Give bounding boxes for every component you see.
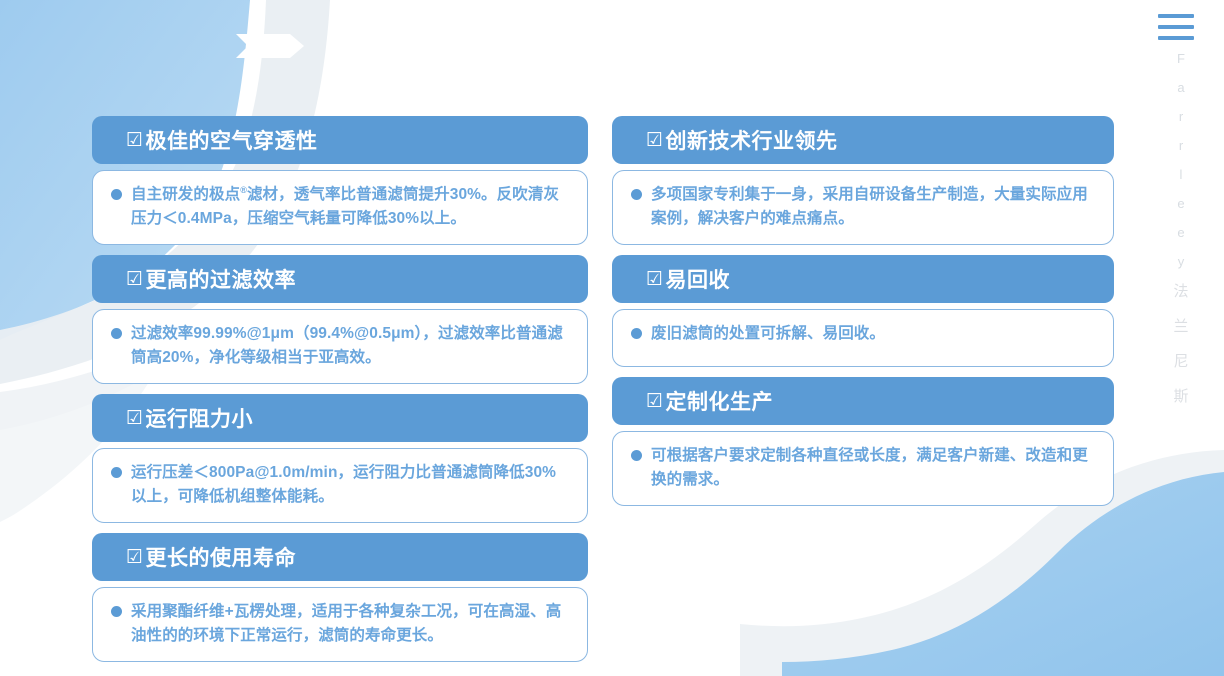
vertical-char-4: l (1180, 168, 1183, 181)
vertical-char-7: y (1178, 255, 1185, 268)
feature-block: ☑ 易回收 废旧滤筒的处置可拆解、易回收。 (612, 255, 1114, 367)
menu-bar-2 (1158, 25, 1194, 29)
feature-description: 可根据客户要求定制各种直径或长度，满足客户新建、改造和更换的需求。 (651, 444, 1097, 492)
feature-block: ☑ 更高的过滤效率 过滤效率99.99%@1μm（99.4%@0.5μm），过滤… (92, 255, 588, 384)
vertical-char-5: e (1177, 197, 1184, 210)
menu-bar-1 (1158, 14, 1194, 18)
feature-column-right: ☑ 创新技术行业领先 多项国家专利集于一身，采用自研设备生产制造，大量实际应用案… (612, 116, 1114, 516)
feature-description: 自主研发的极点®滤材，透气率比普通滤筒提升30%。反吹清灰压力＜0.4MPa，压… (131, 183, 571, 231)
feature-description: 运行压差＜800Pa@1.0m/min，运行阻力比普通滤筒降低30%以上，可降低… (131, 461, 571, 509)
feature-block: ☑ 极佳的空气穿透性 自主研发的极点®滤材，透气率比普通滤筒提升30%。反吹清灰… (92, 116, 588, 245)
features-content: ☑ 极佳的空气穿透性 自主研发的极点®滤材，透气率比普通滤筒提升30%。反吹清灰… (0, 0, 1224, 676)
checkbox-icon: ☑ (126, 548, 144, 567)
feature-description: 多项国家专利集于一身，采用自研设备生产制造，大量实际应用案例，解决客户的难点痛点… (651, 183, 1097, 231)
bullet-dot-icon (631, 328, 642, 339)
feature-title: 易回收 (666, 264, 731, 294)
vertical-char-9: 兰 (1173, 319, 1188, 334)
bullet-dot-icon (111, 467, 122, 478)
feature-header[interactable]: ☑ 创新技术行业领先 (612, 116, 1114, 164)
feature-description: 废旧滤筒的处置可拆解、易回收。 (651, 322, 885, 346)
feature-block: ☑ 创新技术行业领先 多项国家专利集于一身，采用自研设备生产制造，大量实际应用案… (612, 116, 1114, 245)
feature-header[interactable]: ☑ 极佳的空气穿透性 (92, 116, 588, 164)
vertical-char-10: 尼 (1173, 354, 1188, 369)
checkbox-icon: ☑ (126, 131, 144, 150)
vertical-char-2: r (1179, 110, 1183, 123)
feature-body: 采用聚酯纤维+瓦楞处理，适用于各种复杂工况，可在高湿、高油性的的环境下正常运行，… (92, 587, 588, 662)
feature-body: 自主研发的极点®滤材，透气率比普通滤筒提升30%。反吹清灰压力＜0.4MPa，压… (92, 170, 588, 245)
checkbox-icon: ☑ (126, 409, 144, 428)
vertical-char-11: 斯 (1173, 389, 1188, 404)
bullet-dot-icon (631, 189, 642, 200)
feature-description: 过滤效率99.99%@1μm（99.4%@0.5μm），过滤效率比普通滤筒高20… (131, 322, 571, 370)
feature-body: 运行压差＜800Pa@1.0m/min，运行阻力比普通滤筒降低30%以上，可降低… (92, 448, 588, 523)
feature-header[interactable]: ☑ 更高的过滤效率 (92, 255, 588, 303)
feature-body: 可根据客户要求定制各种直径或长度，满足客户新建、改造和更换的需求。 (612, 431, 1114, 506)
page-root: F a r r l e e y 法 兰 尼 斯 ☑ 极佳的空气穿透性 自主研发的… (0, 0, 1224, 676)
feature-column-left: ☑ 极佳的空气穿透性 自主研发的极点®滤材，透气率比普通滤筒提升30%。反吹清灰… (92, 116, 588, 672)
feature-title: 定制化生产 (666, 386, 774, 416)
feature-title: 创新技术行业领先 (666, 125, 838, 155)
feature-title: 极佳的空气穿透性 (146, 125, 318, 155)
feature-title: 更长的使用寿命 (146, 542, 297, 572)
hamburger-menu-icon[interactable] (1158, 14, 1194, 40)
feature-body: 过滤效率99.99%@1μm（99.4%@0.5μm），过滤效率比普通滤筒高20… (92, 309, 588, 384)
vertical-char-1: a (1177, 81, 1184, 94)
vertical-char-6: e (1177, 226, 1184, 239)
feature-header[interactable]: ☑ 易回收 (612, 255, 1114, 303)
feature-block: ☑ 定制化生产 可根据客户要求定制各种直径或长度，满足客户新建、改造和更换的需求… (612, 377, 1114, 506)
bullet-dot-icon (111, 189, 122, 200)
vertical-char-8: 法 (1173, 284, 1188, 299)
feature-title: 运行阻力小 (146, 403, 254, 433)
checkbox-icon: ☑ (646, 392, 664, 411)
feature-block: ☑ 运行阻力小 运行压差＜800Pa@1.0m/min，运行阻力比普通滤筒降低3… (92, 394, 588, 523)
feature-description: 采用聚酯纤维+瓦楞处理，适用于各种复杂工况，可在高湿、高油性的的环境下正常运行，… (131, 600, 571, 648)
feature-block: ☑ 更长的使用寿命 采用聚酯纤维+瓦楞处理，适用于各种复杂工况，可在高湿、高油性… (92, 533, 588, 662)
feature-header[interactable]: ☑ 运行阻力小 (92, 394, 588, 442)
feature-body: 废旧滤筒的处置可拆解、易回收。 (612, 309, 1114, 367)
bullet-dot-icon (631, 450, 642, 461)
menu-bar-3 (1158, 36, 1194, 40)
bullet-dot-icon (111, 328, 122, 339)
bullet-dot-icon (111, 606, 122, 617)
vertical-char-0: F (1177, 52, 1185, 65)
feature-header[interactable]: ☑ 定制化生产 (612, 377, 1114, 425)
checkbox-icon: ☑ (646, 131, 664, 150)
checkbox-icon: ☑ (646, 270, 664, 289)
feature-body: 多项国家专利集于一身，采用自研设备生产制造，大量实际应用案例，解决客户的难点痛点… (612, 170, 1114, 245)
feature-title: 更高的过滤效率 (146, 264, 297, 294)
vertical-brand-text: F a r r l e e y 法 兰 尼 斯 (1168, 52, 1194, 424)
feature-header[interactable]: ☑ 更长的使用寿命 (92, 533, 588, 581)
vertical-char-3: r (1179, 139, 1183, 152)
checkbox-icon: ☑ (126, 270, 144, 289)
